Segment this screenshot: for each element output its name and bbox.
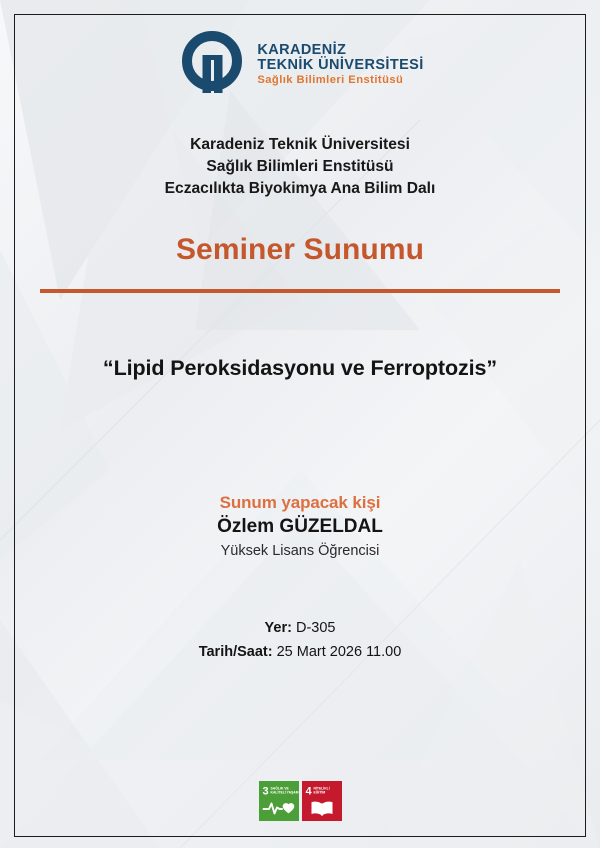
sdg-icon-row: 3 SAĞLIK VE KALİTELİ YAŞAM 4 NİTELİKLİ E… [0,781,600,821]
institute-line-1: Karadeniz Teknik Üniversitesi [165,134,436,156]
place-label: Yer: [265,620,292,636]
seminar-topic: “Lipid Peroksidasyonu ve Ferroptozis” [103,356,497,381]
presenter-block: Sunum yapacak kişi Özlem GÜZELDAL Yüksek… [217,493,383,559]
university-logo: KARADENİZ TEKNİK ÜNİVERSİTESİ Sağlık Bil… [176,26,423,104]
logo-line-3: Sağlık Bilimleri Enstitüsü [257,75,423,87]
detail-place: Yer: D-305 [199,617,402,641]
ktu-circle-logo-icon [176,29,248,101]
svg-text:4: 4 [305,786,312,798]
sdg-3-good-health-icon: 3 SAĞLIK VE KALİTELİ YAŞAM [259,781,299,821]
datetime-value: 25 Mart 2026 11.00 [277,644,402,660]
svg-text:EĞİTİM: EĞİTİM [313,790,325,795]
detail-datetime: Tarih/Saat: 25 Mart 2026 11.00 [199,641,402,665]
datetime-label: Tarih/Saat: [199,644,273,660]
institute-line-2: Sağlık Bilimleri Enstitüsü [165,156,436,178]
logo-line-2: TEKNİK ÜNİVERSİTESİ [257,58,423,73]
logo-line-1: KARADENİZ [257,43,423,58]
institute-heading: Karadeniz Teknik Üniversitesi Sağlık Bil… [165,134,436,200]
svg-text:KALİTELİ YAŞAM: KALİTELİ YAŞAM [270,791,298,795]
presenter-role: Yüksek Lisans Öğrencisi [217,543,383,559]
presenter-name: Özlem GÜZELDAL [217,516,383,538]
presenter-label: Sunum yapacak kişi [217,493,383,513]
svg-text:3: 3 [262,786,268,798]
institute-line-3: Eczacılıkta Biyokimya Ana Bilim Dalı [165,178,436,200]
event-details: Yer: D-305 Tarih/Saat: 25 Mart 2026 11.0… [199,617,402,665]
title-divider [40,289,560,293]
seminar-poster: KARADENİZ TEKNİK ÜNİVERSİTESİ Sağlık Bil… [0,0,600,848]
place-value: D-305 [296,620,336,636]
page-title: Seminer Sunumu [176,233,424,267]
sdg-4-quality-education-icon: 4 NİTELİKLİ EĞİTİM [302,781,342,821]
